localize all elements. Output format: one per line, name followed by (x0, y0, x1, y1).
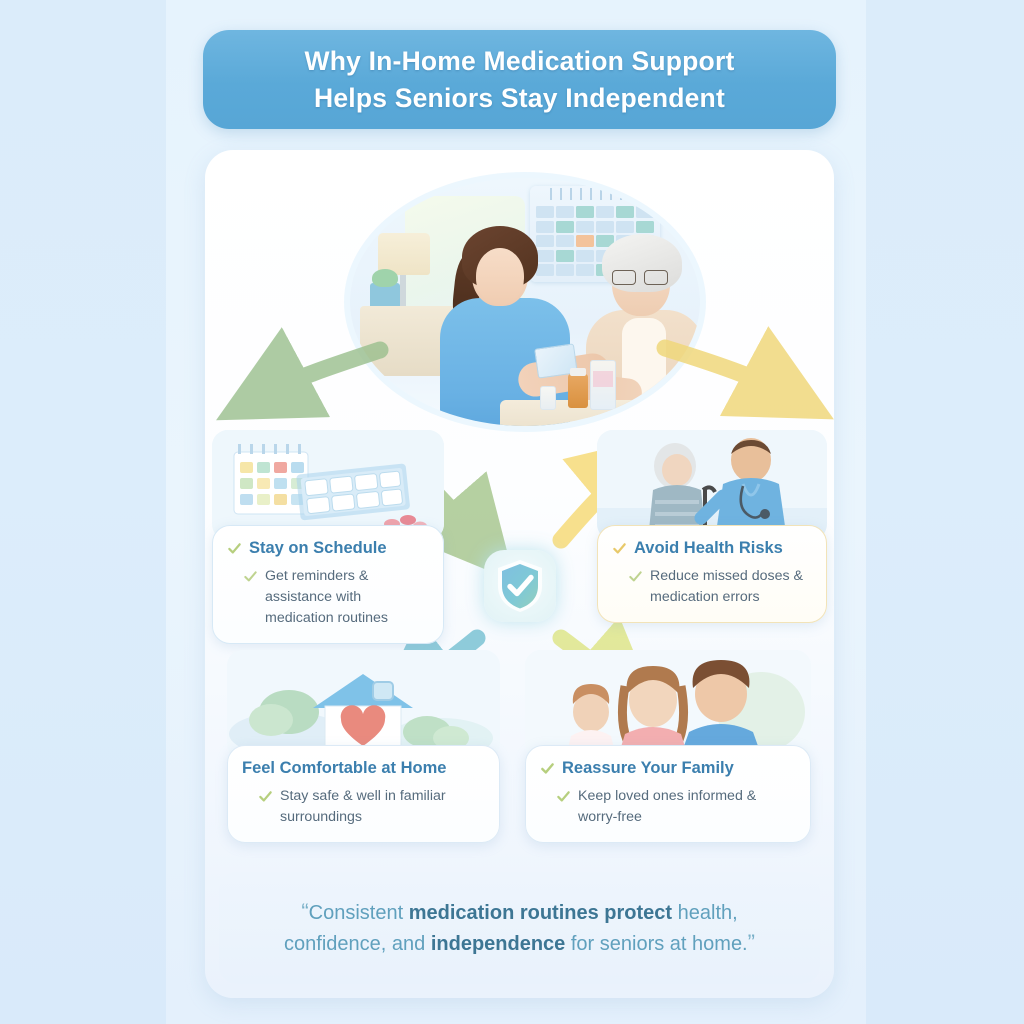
card-title-text: Reassure Your Family (562, 758, 734, 779)
title-line-2: Helps Seniors Stay Independent (314, 80, 725, 117)
lamp-stand (400, 275, 406, 309)
hero-section (205, 160, 834, 435)
calendar-rings (542, 188, 648, 200)
card-body-row: Keep loved ones informed & worry-free (540, 786, 796, 828)
card-body: Avoid Health Risks Reduce missed doses &… (597, 525, 827, 623)
content-panel: Stay on Schedule Get reminders & assista… (205, 150, 834, 998)
caregiver-face (476, 248, 524, 304)
check-icon (612, 541, 627, 556)
quote-text: “Consistent medication routines protect … (219, 897, 820, 959)
caregiver-and-senior-illustration (350, 178, 700, 426)
card-title-row: Avoid Health Risks (612, 538, 812, 559)
quote-part-2-bold: medication routines protect (409, 902, 672, 924)
title-line-1: Why In-Home Medication Support (305, 43, 735, 80)
card-avoid-health-risks[interactable]: Avoid Health Risks Reduce missed doses &… (597, 525, 827, 623)
card-body-text: Reduce missed doses & medication errors (650, 566, 812, 608)
quote-panel: “Consistent medication routines protect … (219, 872, 820, 984)
quote-part-4-bold: independence (431, 933, 565, 955)
small-bottle-icon (540, 386, 556, 410)
close-quote-mark: ” (748, 930, 755, 955)
card-title-row: Feel Comfortable at Home (242, 758, 485, 779)
quote-part-5: for seniors at home. (565, 933, 747, 955)
card-title-row: Stay on Schedule (227, 538, 429, 559)
check-icon (540, 761, 555, 776)
card-body-row: Reduce missed doses & medication errors (612, 566, 812, 608)
check-icon (628, 569, 643, 584)
quote-part-1: Consistent (309, 902, 409, 924)
pill-bottle-icon (568, 374, 588, 408)
eyeglasses-icon (612, 270, 668, 283)
card-body-row: Stay safe & well in familiar surrounding… (242, 786, 485, 828)
card-body-text: Keep loved ones informed & worry-free (578, 786, 796, 828)
check-icon (556, 789, 571, 804)
poster-title-bar: Why In-Home Medication Support Helps Sen… (203, 30, 836, 129)
family-portrait-image (525, 650, 811, 760)
check-icon (258, 789, 273, 804)
card-body: Stay on Schedule Get reminders & assista… (212, 525, 444, 644)
card-body-text: Stay safe & well in familiar surrounding… (280, 786, 485, 828)
pill-organizer-calendar-image (212, 430, 444, 540)
infographic-poster: Why In-Home Medication Support Helps Sen… (0, 0, 1024, 1024)
check-icon (243, 569, 258, 584)
shield-check-icon (494, 558, 546, 614)
card-body-text: Get reminders & assistance with medicati… (265, 566, 429, 629)
check-icon (227, 541, 242, 556)
card-title-text: Avoid Health Risks (634, 538, 783, 559)
card-reassure-your-family[interactable]: Reassure Your Family Keep loved ones inf… (525, 745, 811, 843)
card-stay-on-schedule[interactable]: Stay on Schedule Get reminders & assista… (212, 525, 444, 644)
card-body-row: Get reminders & assistance with medicati… (227, 566, 429, 629)
card-body: Feel Comfortable at Home Stay safe & wel… (227, 745, 500, 843)
card-title-text: Feel Comfortable at Home (242, 758, 446, 779)
card-body: Reassure Your Family Keep loved ones inf… (525, 745, 811, 843)
house-with-heart-image (227, 650, 500, 760)
card-title-text: Stay on Schedule (249, 538, 387, 559)
card-title-row: Reassure Your Family (540, 758, 796, 779)
open-quote-mark: “ (301, 899, 308, 924)
shield-check-badge (484, 550, 556, 622)
medicine-bottle-icon (590, 360, 616, 410)
card-feel-comfortable-at-home[interactable]: Feel Comfortable at Home Stay safe & wel… (227, 745, 500, 843)
nurse-assisting-senior-image (597, 430, 827, 540)
